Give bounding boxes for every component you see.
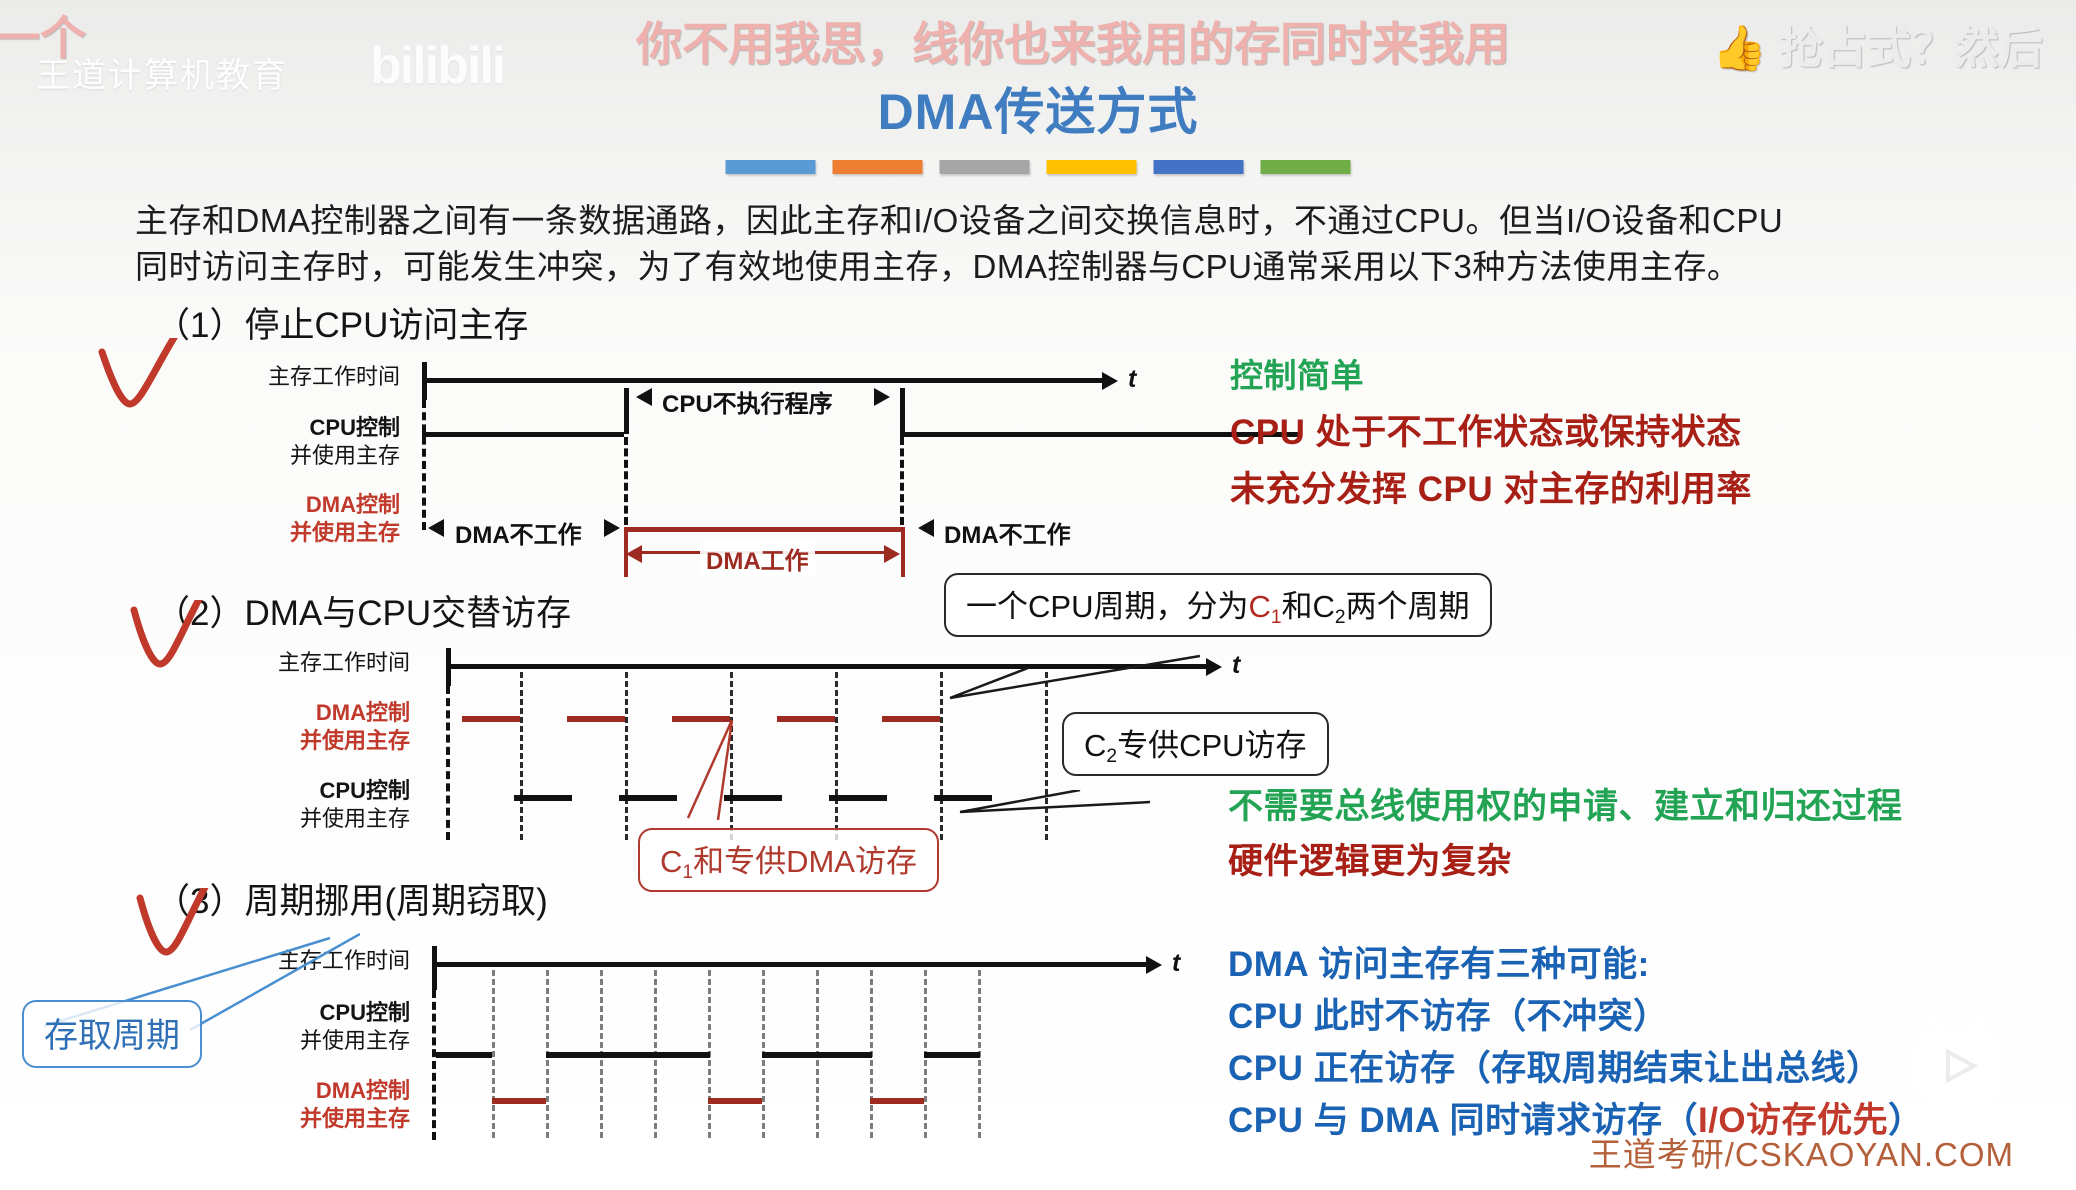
s1-dma-idle-arrow-r [918,519,934,537]
s2-cpu-pulse [934,795,992,801]
s1-label-cpu-1: CPU控制 [145,415,400,441]
s2-dma-pulse [672,716,730,722]
intro-paragraph: 主存和DMA控制器之间有一条数据通路，因此主存和I/O设备之间交换信息时，不通过… [135,198,2045,290]
s1-dash-end [900,437,904,525]
s2-dma-pulse [882,716,940,722]
s1-dma-work-top [624,527,905,532]
s1-label-dma-1: DMA控制 [145,492,400,518]
s2-callout-c1-pre: C [660,844,682,879]
s1-time-axis [422,378,1104,383]
s1-note-dma-work: DMA工作 [700,541,815,576]
s1-cpu-idle-arrow-right [874,388,890,406]
s1-label-cpu-2: 并使用主存 [145,443,400,469]
s1-cpu-riser-left [624,388,629,432]
s3-label-dma-2: 并使用主存 [145,1106,410,1132]
s2-callout-cycle-pre: 一个CPU周期，分为 [966,589,1248,624]
s3-label-memory: 主存工作时间 [145,948,410,974]
s2-period-divider [835,672,838,840]
s2-note-red: 硬件逻辑更为复杂 [1228,833,1512,884]
s2-cpu-pulse [829,795,887,801]
s2-period-divider [625,672,628,840]
s3-axis-label-t: t [1172,949,1180,978]
s2-callout-c2-post: 专供CPU访存 [1117,728,1306,763]
s1-note-dma-idle-left: DMA不工作 [455,515,582,550]
s2-axis-label-t: t [1232,651,1240,680]
section-2-heading: （2）DMA与CPU交替访存 [155,585,571,636]
color-bar [1261,160,1351,174]
s2-label-dma-1: DMA控制 [145,700,410,726]
s1-dma-idle-arrow-l2 [604,519,620,537]
s2-note-green: 不需要总线使用权的申请、建立和归还过程 [1228,778,1903,829]
s2-cpu-pulse [724,795,782,801]
section-3-heading: （3）周期挪用(周期窃取) [155,873,548,924]
s2-callout-c1-sub2: 1 [682,862,693,883]
color-bar [1047,160,1137,174]
s3-note-2: CPU 此时不访存（不冲突） [1228,988,1669,1039]
s2-origin-dash [446,686,450,840]
color-bar [833,160,923,174]
s1-dash-start [624,437,628,525]
s3-note-1: DMA 访问主存有三种可能: [1228,936,1650,987]
s2-callout-c1-post: 和专供DMA访存 [693,844,917,879]
section-1-heading: （1）停止CPU访问主存 [155,297,528,348]
s2-callout-c2-sub: 2 [1335,607,1346,628]
s2-dma-pulse [777,716,835,722]
page-title: DMA传送方式 [0,72,2076,144]
s2-period-divider [1045,672,1048,840]
s3-time-axis [432,962,1148,967]
s1-label-memory: 主存工作时间 [145,364,400,390]
s2-label-dma-2: 并使用主存 [145,728,410,754]
slide-canvas: 王道计算机教育 bilibili 一个 你不用我思，线你也来我用的存同时来我用 … [0,0,2076,1190]
s2-period-divider [730,672,733,840]
s2-cycle-leader-lines [900,630,1200,710]
s2-period-divider [940,672,943,840]
s3-label-dma-1: DMA控制 [145,1078,410,1104]
s2-label-cpu-2: 并使用主存 [145,806,410,832]
s2-cpu-pulse [514,795,572,801]
s3-dma-steal [870,1098,924,1104]
s2-callout-cycle-post: 两个周期 [1346,589,1470,624]
s1-note-dma-idle-right: DMA不工作 [944,515,1071,550]
color-bar [726,160,816,174]
s2-callout-c1-dma: C1和专供DMA访存 [638,828,939,892]
s1-cpu-seg-left [422,432,624,437]
danmaku-comment: 你不用我思，线你也来我用的存同时来我用 [636,8,1510,74]
color-bar [1154,160,1244,174]
s3-cpu-seg [924,1052,980,1058]
s2-callout-c2-pre: C [1084,728,1106,763]
color-bar [940,160,1030,174]
s1-cpu-riser-right [900,388,905,432]
s3-cpu-seg [762,1052,872,1058]
s2-callout-c2-sub2: 2 [1106,746,1117,767]
s1-label-dma-2: 并使用主存 [145,520,400,546]
intro-line-2: 同时访问主存时，可能发生冲突，为了有效地使用主存，DMA控制器与CPU通常采用以… [135,244,2045,290]
s1-cpu-idle-arrow-left [636,388,652,406]
s3-dma-steal [708,1098,762,1104]
s2-callout-c2-cpu: C2专供CPU访存 [1062,712,1329,776]
s3-cycle-divider [492,970,495,1138]
s3-callout-access-cycle: 存取周期 [22,1000,202,1068]
s1-dma-work-arrow-r [884,545,900,563]
s2-cpu-pulse [619,795,677,801]
s3-note-3: CPU 正在访存（存取周期结束让出总线） [1228,1040,1882,1091]
s2-dma-pulse [462,716,520,722]
intro-line-1: 主存和DMA控制器之间有一条数据通路，因此主存和I/O设备之间交换信息时，不通过… [135,198,2045,244]
s1-note-cpu-idle: CPU不执行程序 [662,384,833,419]
s2-dma-pulse [567,716,625,722]
s1-axis-label-t: t [1128,365,1136,394]
footer-brand: 王道考研/CSKAOYAN.COM [1589,1128,2014,1176]
s2-callout-c1: C [1248,589,1270,624]
s2-callout-c1-sub: 1 [1271,607,1282,628]
s3-origin-tick [432,946,437,990]
s2-axis-arrow [1206,658,1222,676]
s2-callout-cycle-mid: 和C [1282,589,1335,624]
s3-origin-dash [432,990,436,1140]
s1-note-red-1: CPU 处于不工作状态或保持状态 [1230,404,1742,455]
s3-dma-steal [492,1098,546,1104]
s2-time-axis [446,664,1208,669]
s1-note-green: 控制简单 [1230,349,1364,397]
s1-origin-dash [422,400,426,530]
s2-callout-cpu-cycle: 一个CPU周期，分为C1和C2两个周期 [944,573,1492,637]
s1-dma-work-right-edge [901,527,905,577]
s1-note-red-2: 未充分发挥 CPU 对主存的利用率 [1230,461,1752,512]
s1-dma-work-arrow-l [626,545,642,563]
s2-label-memory: 主存工作时间 [145,650,410,676]
s3-cpu-seg [546,1052,710,1058]
s2-label-cpu-1: CPU控制 [145,778,410,804]
danmaku-comment: 👍 抢占式？然后 [1712,12,2043,76]
s1-dma-idle-arrow-l [428,519,444,537]
s3-cpu-seg [436,1052,492,1058]
s3-axis-arrow [1146,956,1162,974]
s2-period-divider [520,672,523,840]
s1-axis-arrow [1102,372,1118,390]
title-color-bars [726,160,1351,174]
